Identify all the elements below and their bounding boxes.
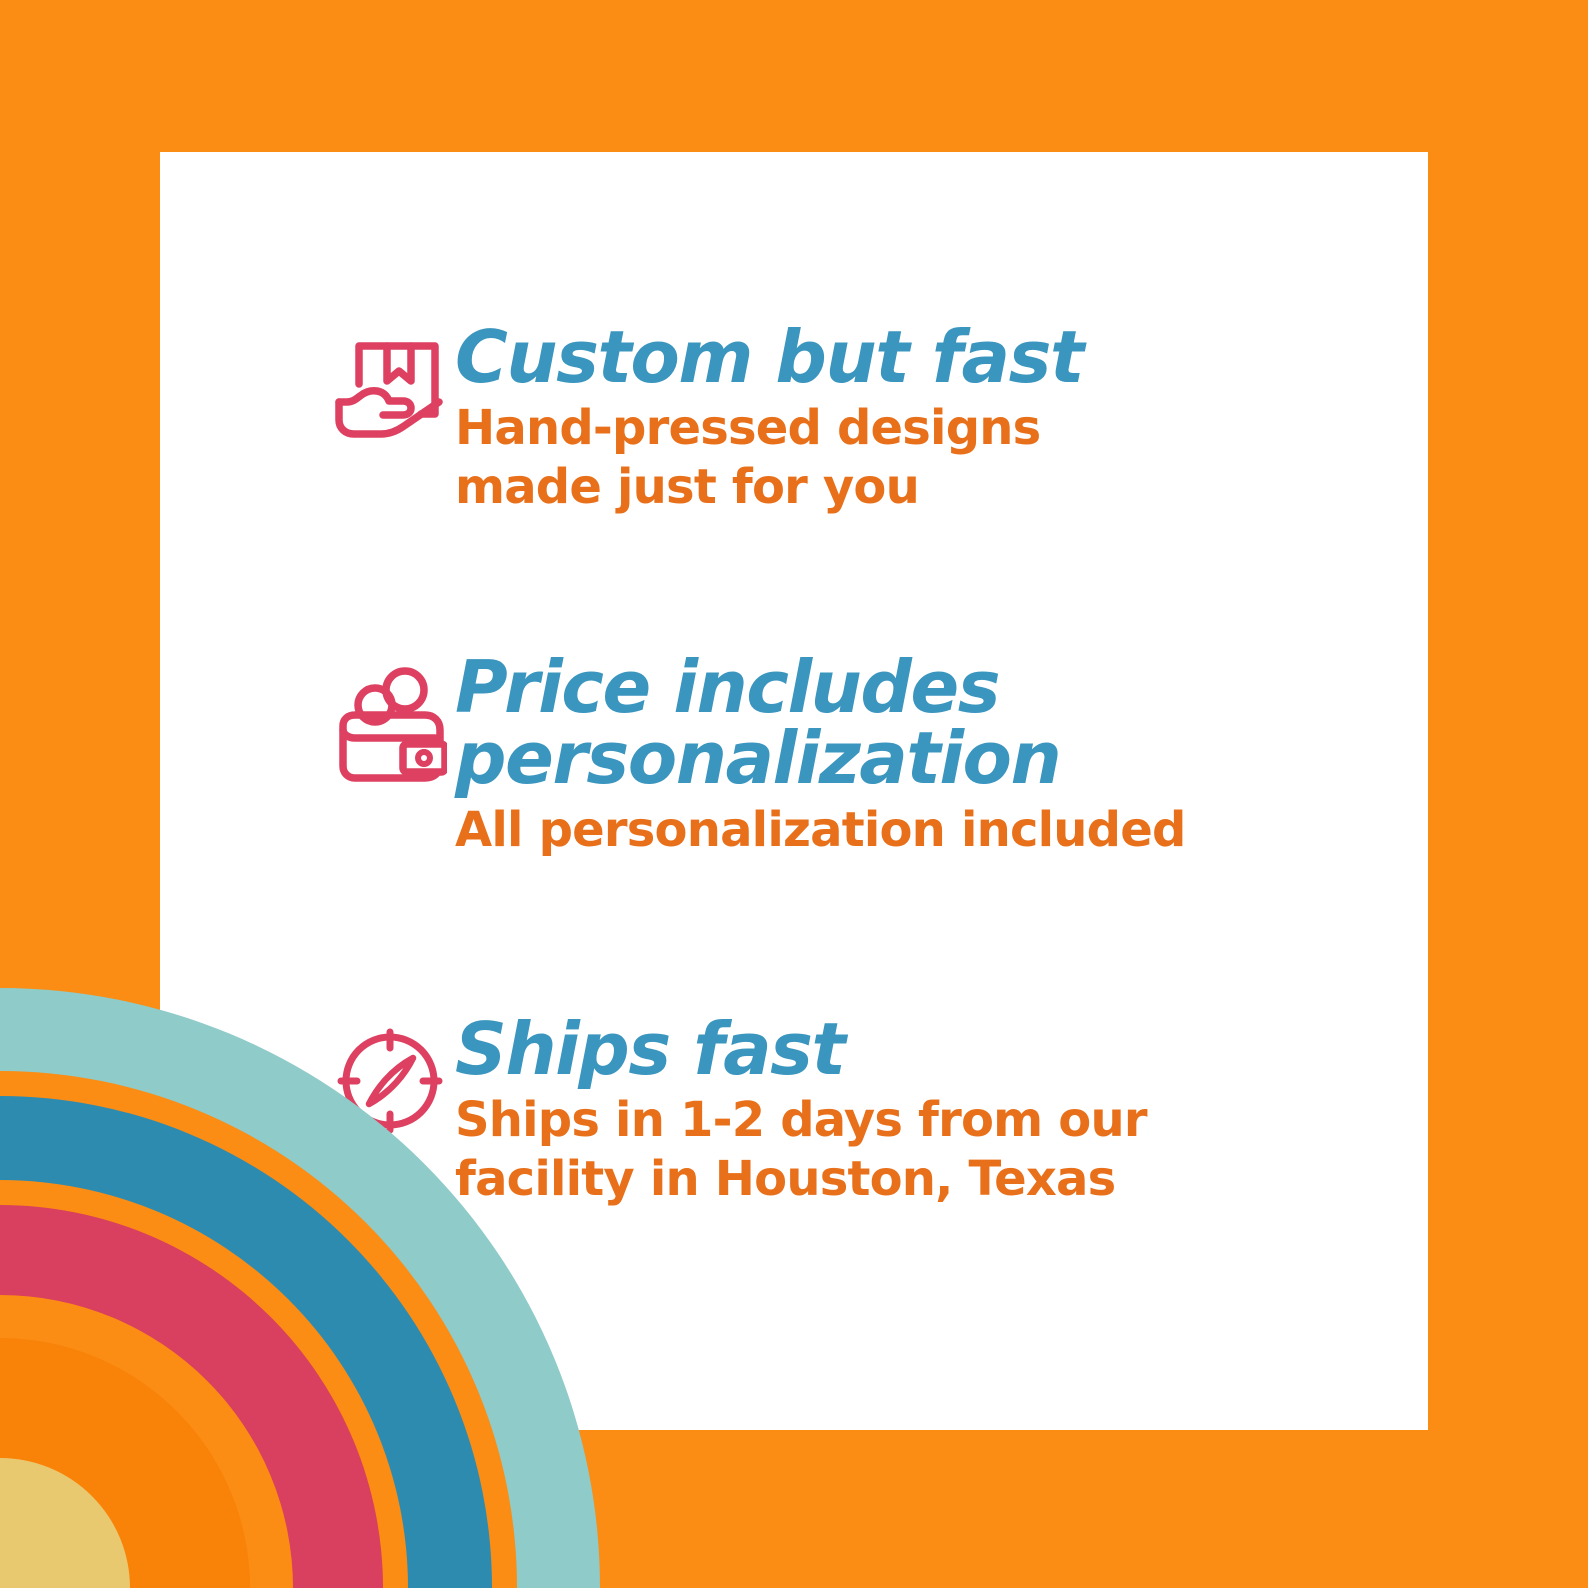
rainbow-band-tan — [0, 1458, 130, 1588]
feature-title: Custom but fast — [455, 322, 1355, 393]
feature-row: Custom but fast Hand-pressed designs mad… — [335, 322, 1355, 516]
compass-icon — [335, 1014, 455, 1136]
feature-row: Price includes personalization All perso… — [335, 652, 1355, 859]
feature-subtitle: All personalization included — [455, 801, 1355, 860]
feature-text: Custom but fast Hand-pressed designs mad… — [455, 322, 1355, 516]
feature-title: Ships fast — [455, 1014, 1355, 1085]
content-card: Custom but fast Hand-pressed designs mad… — [160, 152, 1428, 1430]
wallet-with-coins-icon — [335, 652, 455, 786]
hand-holding-package-icon — [335, 322, 455, 440]
feature-text: Ships fast Ships in 1-2 days from our fa… — [455, 1014, 1355, 1208]
feature-text: Price includes personalization All perso… — [455, 652, 1355, 859]
poster-canvas: Custom but fast Hand-pressed designs mad… — [0, 0, 1588, 1588]
feature-subtitle: Hand-pressed designs made just for you — [455, 399, 1355, 516]
feature-row: Ships fast Ships in 1-2 days from our fa… — [335, 1014, 1355, 1208]
feature-subtitle: Ships in 1-2 days from our facility in H… — [455, 1091, 1355, 1208]
feature-title: Price includes personalization — [455, 652, 1355, 795]
